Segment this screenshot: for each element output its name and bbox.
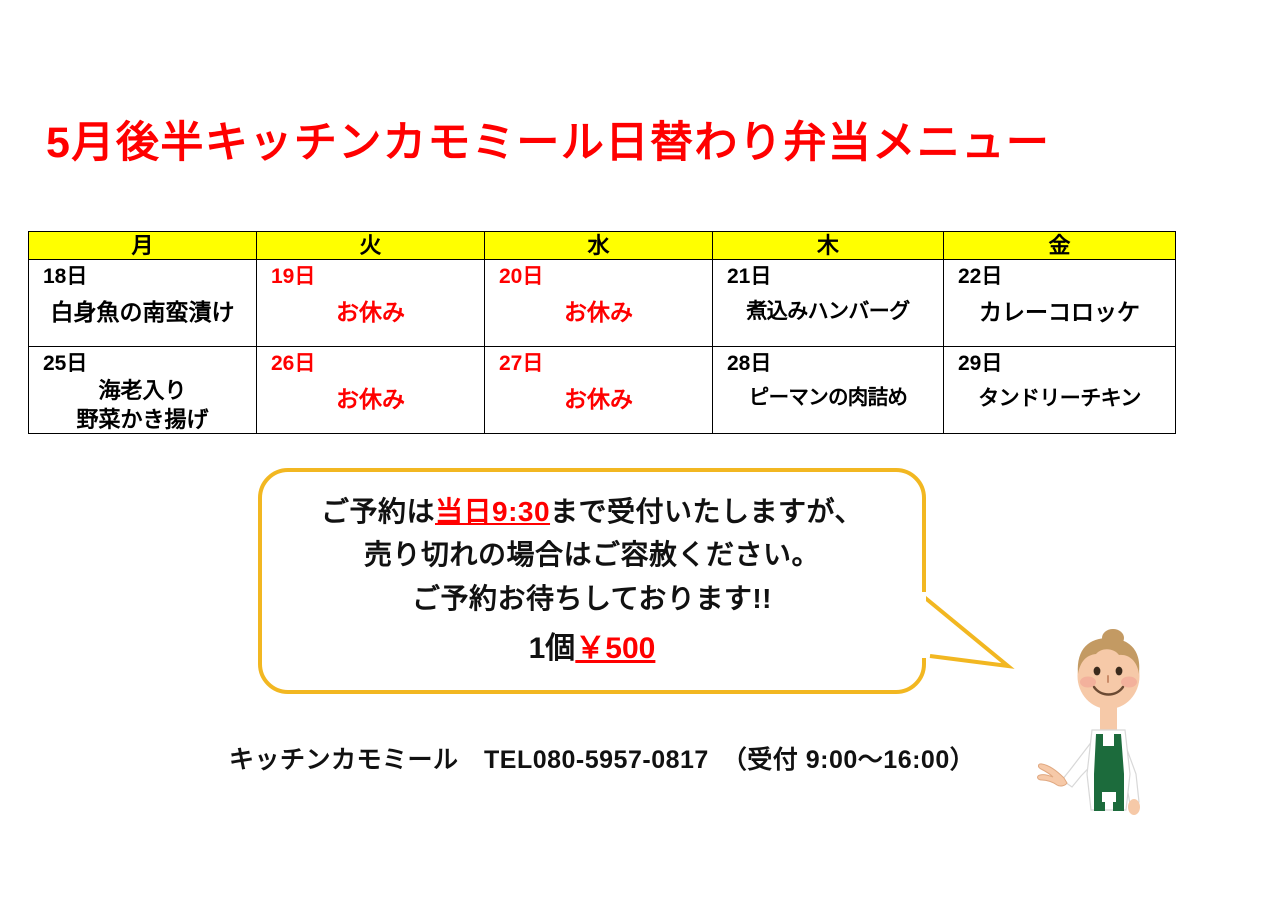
weekly-menu-table: 月 火 水 木 金 18日 白身魚の南蛮漬け 19日 お休み 20日 お休み 2… [28, 231, 1176, 434]
table-row: 18日 白身魚の南蛮漬け 19日 お休み 20日 お休み 21日 煮込みハンバー… [29, 260, 1176, 347]
menu-cell-21: 21日 煮込みハンバーグ [713, 260, 944, 347]
character-apron-leg-right [1113, 802, 1124, 811]
menu-day-label: 26日 [257, 347, 484, 376]
column-header-thursday: 木 [713, 232, 944, 260]
menu-day-label: 21日 [713, 260, 943, 289]
notice-line-1-suffix: まで受付いたしますが、 [550, 496, 863, 527]
menu-dish-label: お休み [485, 299, 712, 327]
character-cheek-left [1080, 677, 1096, 688]
column-header-friday: 金 [944, 232, 1176, 260]
character-eye-right [1116, 667, 1123, 676]
menu-day-label: 27日 [485, 347, 712, 376]
menu-cell-22: 22日 カレーコロッケ [944, 260, 1176, 347]
character-hair-bun [1102, 629, 1124, 647]
price-prefix: 1個 [529, 632, 576, 665]
menu-cell-29: 29日 タンドリーチキン [944, 347, 1176, 434]
menu-day-label: 25日 [29, 347, 256, 376]
menu-dish-label: カレーコロッケ [944, 299, 1175, 327]
menu-dish-label: ピーマンの肉詰め [713, 386, 943, 411]
menu-cell-25: 25日 海老入り 野菜かき揚げ [29, 347, 257, 434]
menu-dish-label: お休み [257, 386, 484, 414]
column-header-tuesday: 火 [257, 232, 485, 260]
menu-cell-26: 26日 お休み [257, 347, 485, 434]
menu-cell-28: 28日 ピーマンの肉詰め [713, 347, 944, 434]
character-eye-left [1094, 667, 1101, 676]
menu-day-label: 19日 [257, 260, 484, 289]
price-line: 1個￥500 [262, 626, 922, 671]
price-value: ￥500 [575, 632, 655, 665]
menu-dish-label: 白身魚の南蛮漬け [29, 299, 256, 327]
staff-character-illustration [1018, 624, 1198, 829]
menu-day-label: 28日 [713, 347, 943, 376]
notice-line-1: ご予約は当日9:30まで受付いたしますが、 [262, 490, 922, 533]
notice-deadline-highlight: 当日9:30 [435, 496, 550, 527]
menu-cell-27: 27日 お休み [485, 347, 713, 434]
menu-cell-19: 19日 お休み [257, 260, 485, 347]
menu-dish-label: お休み [485, 386, 712, 414]
reservation-notice-bubble: ご予約は当日9:30まで受付いたしますが、 売り切れの場合はご容赦ください。 ご… [258, 468, 926, 694]
character-apron-leg-left [1094, 802, 1105, 811]
character-right-hand [1128, 799, 1140, 815]
notice-line-3: ご予約お待ちしております!! [262, 577, 922, 620]
menu-dish-label: 煮込みハンバーグ [713, 299, 943, 324]
table-row: 25日 海老入り 野菜かき揚げ 26日 お休み 27日 お休み 28日 ピーマン… [29, 347, 1176, 434]
column-header-wednesday: 水 [485, 232, 713, 260]
column-header-monday: 月 [29, 232, 257, 260]
menu-day-label: 18日 [29, 260, 256, 289]
page-title: 5月後半キッチンカモミール日替わり弁当メニュー [46, 119, 1236, 168]
menu-day-label: 20日 [485, 260, 712, 289]
table-header-row: 月 火 水 木 金 [29, 232, 1176, 260]
notice-line-1-prefix: ご予約は [321, 496, 435, 527]
menu-dish-label: お休み [257, 299, 484, 327]
menu-day-label: 29日 [944, 347, 1175, 376]
menu-cell-20: 20日 お休み [485, 260, 713, 347]
shop-contact-line: キッチンカモミール TEL080-5957-0817 （受付 9:00〜16:0… [229, 740, 975, 776]
menu-day-label: 22日 [944, 260, 1175, 289]
menu-dish-label-line2: 野菜かき揚げ [29, 407, 256, 433]
menu-dish-label: タンドリーチキン [944, 386, 1175, 411]
menu-dish-label-line1: 海老入り [29, 378, 256, 404]
menu-cell-18: 18日 白身魚の南蛮漬け [29, 260, 257, 347]
speech-bubble-tail [916, 592, 1016, 674]
notice-line-2: 売り切れの場合はご容赦ください。 [262, 533, 922, 576]
character-hand [1038, 764, 1067, 786]
character-cheek-right [1121, 677, 1137, 688]
